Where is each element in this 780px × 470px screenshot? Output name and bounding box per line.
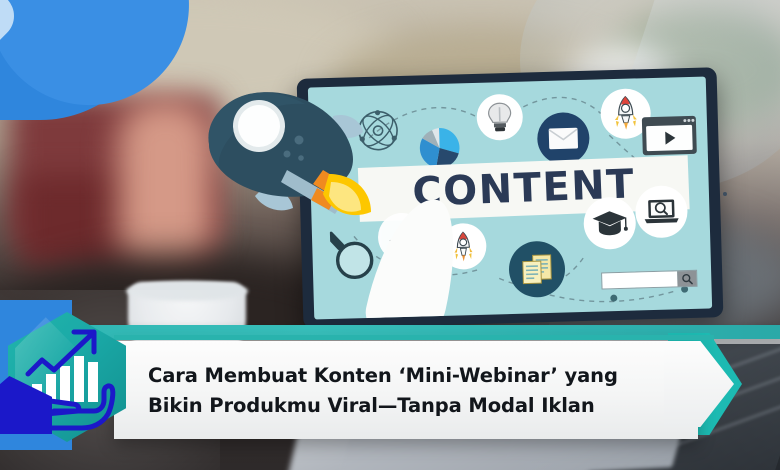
screen-search-input[interactable]: [602, 271, 677, 288]
banner-canvas: CONTENT: [0, 0, 780, 470]
headline-container: Cara Membuat Konten ‘Mini-Webinar’ yang …: [96, 335, 716, 445]
headline-line-2: Bikin Produkmu Viral—Tanpa Modal Iklan: [148, 391, 668, 421]
screen-search-bar[interactable]: [601, 270, 697, 290]
brand-logo[interactable]: [8, 312, 126, 442]
headline-top-rule: [114, 335, 714, 340]
screen-search-button[interactable]: [677, 271, 696, 287]
headline-line-1: Cara Membuat Konten ‘Mini-Webinar’ yang: [148, 361, 668, 391]
headline-text: Cara Membuat Konten ‘Mini-Webinar’ yang …: [148, 361, 668, 421]
rocket-illustration: [195, 78, 395, 248]
video-player-icon: [641, 115, 698, 157]
tablet-button: [723, 192, 727, 196]
